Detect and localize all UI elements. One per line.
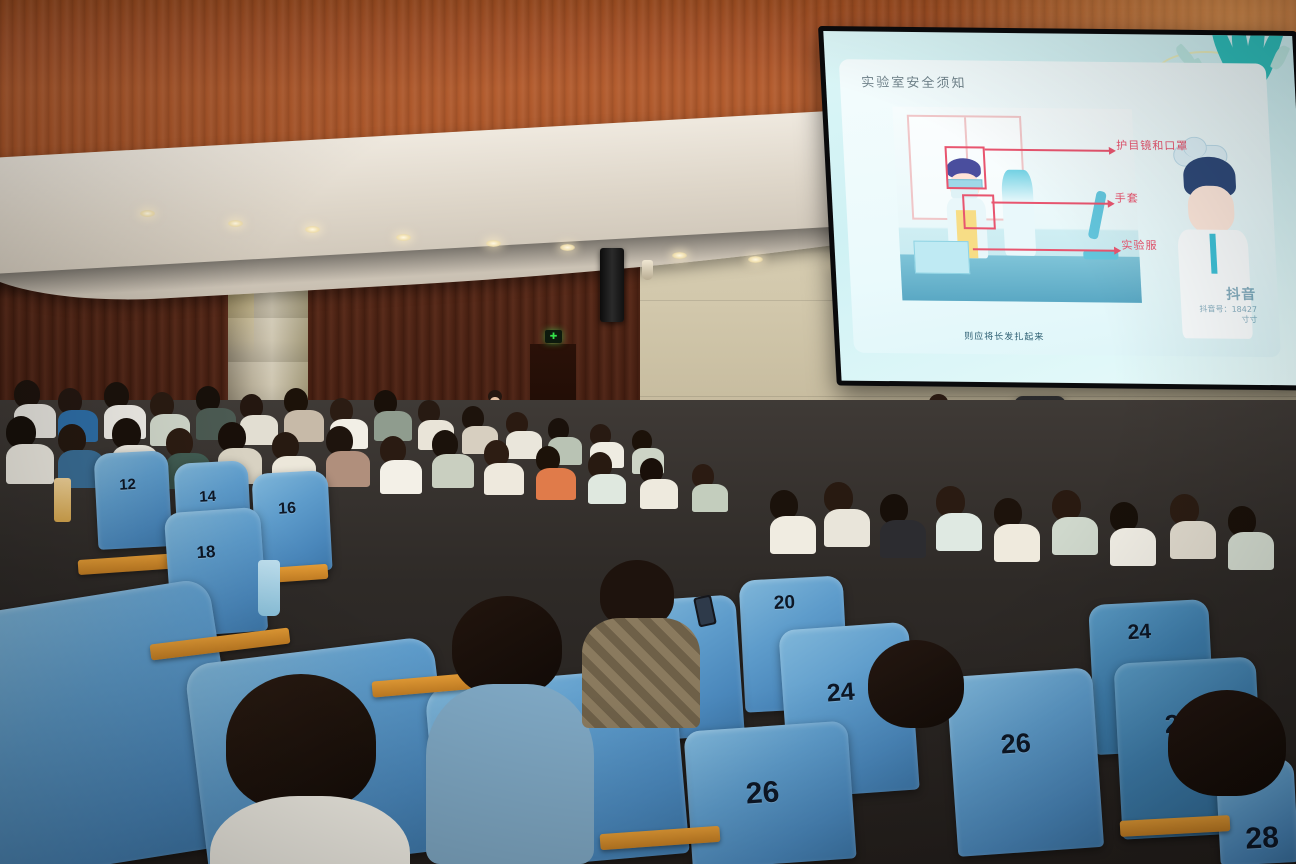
foreground-person-child: [868, 640, 964, 728]
watermark-platform: 抖音: [1198, 287, 1256, 305]
seat-number: 14: [199, 488, 217, 506]
slide-title: 实验室安全须知: [861, 71, 967, 91]
seat-number: 12: [119, 476, 137, 494]
downlight-icon: [486, 240, 501, 247]
downlight-icon: [672, 252, 687, 259]
seat[interactable]: 12: [94, 450, 173, 550]
seat[interactable]: 26: [946, 667, 1104, 857]
downlight-icon: [748, 256, 763, 263]
downlight-icon: [396, 234, 411, 241]
downlight-icon: [140, 210, 155, 217]
slide-illustration: [892, 107, 1141, 303]
slide-caption: 则应将长发扎起来: [964, 329, 1045, 343]
slide-body: 实验室安全须知: [839, 59, 1281, 357]
seat[interactable]: 16: [251, 470, 332, 574]
presentation-screen[interactable]: 实验室安全须知: [818, 26, 1296, 401]
foreground-person-right: [1168, 690, 1286, 796]
callout-label-goggles: 护目镜和口罩: [1116, 137, 1189, 154]
callout-label-labcoat: 实验服: [1121, 237, 1158, 253]
seat-number: 26: [745, 775, 781, 811]
seat-number: 24: [1127, 620, 1152, 645]
watermark-id: 抖音号：18427: [1199, 304, 1257, 315]
illustration-figure-second: [1001, 170, 1037, 256]
callout-box-gloves: [962, 195, 997, 230]
downlight-icon: [305, 226, 320, 233]
watermark-tag: 寸寸: [1200, 314, 1258, 325]
seat-number: 20: [773, 592, 795, 615]
foreground-person-center: [452, 596, 562, 696]
downlight-icon: [228, 220, 243, 227]
seat-number: 16: [278, 500, 297, 519]
slide-watermark: 抖音 抖音号：18427 寸寸: [1198, 287, 1258, 325]
screen-bezel: 实验室安全须知: [818, 26, 1296, 391]
auditorium-scene: ✚ 实验室安全须知: [0, 0, 1296, 864]
seat-number: 24: [826, 678, 856, 709]
water-bottle: [54, 478, 71, 522]
exit-sign-glyph: ✚: [550, 332, 558, 341]
exit-sign-icon: ✚: [545, 330, 562, 343]
screen-face: 实验室安全须知: [823, 31, 1296, 385]
seat-number: 28: [1245, 821, 1280, 857]
wall-lamp: [642, 260, 653, 280]
callout-label-gloves: 手套: [1114, 190, 1139, 206]
water-bottle: [258, 560, 280, 616]
downlight-icon: [560, 244, 575, 251]
wall-speaker: [600, 248, 624, 322]
audience-person-phone-user: [600, 560, 674, 628]
foreground-person-left: [226, 674, 376, 810]
seat-number: 18: [196, 542, 216, 563]
seat-number: 26: [1000, 728, 1032, 761]
beaker-icon: [914, 240, 970, 274]
callout-box-goggles: [945, 146, 987, 189]
